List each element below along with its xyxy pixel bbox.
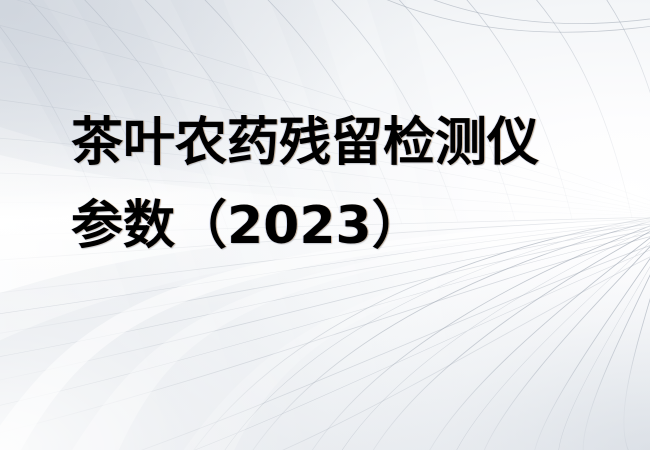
- title-line-product: 茶叶农药残留检测仪: [71, 117, 591, 169]
- banner-root: 茶叶农药残留检测仪 参数（2023）: [0, 0, 650, 450]
- banner-title: 茶叶农药残留检测仪 参数（2023）: [71, 117, 591, 252]
- title-line-parameters: 参数（2023）: [71, 200, 591, 252]
